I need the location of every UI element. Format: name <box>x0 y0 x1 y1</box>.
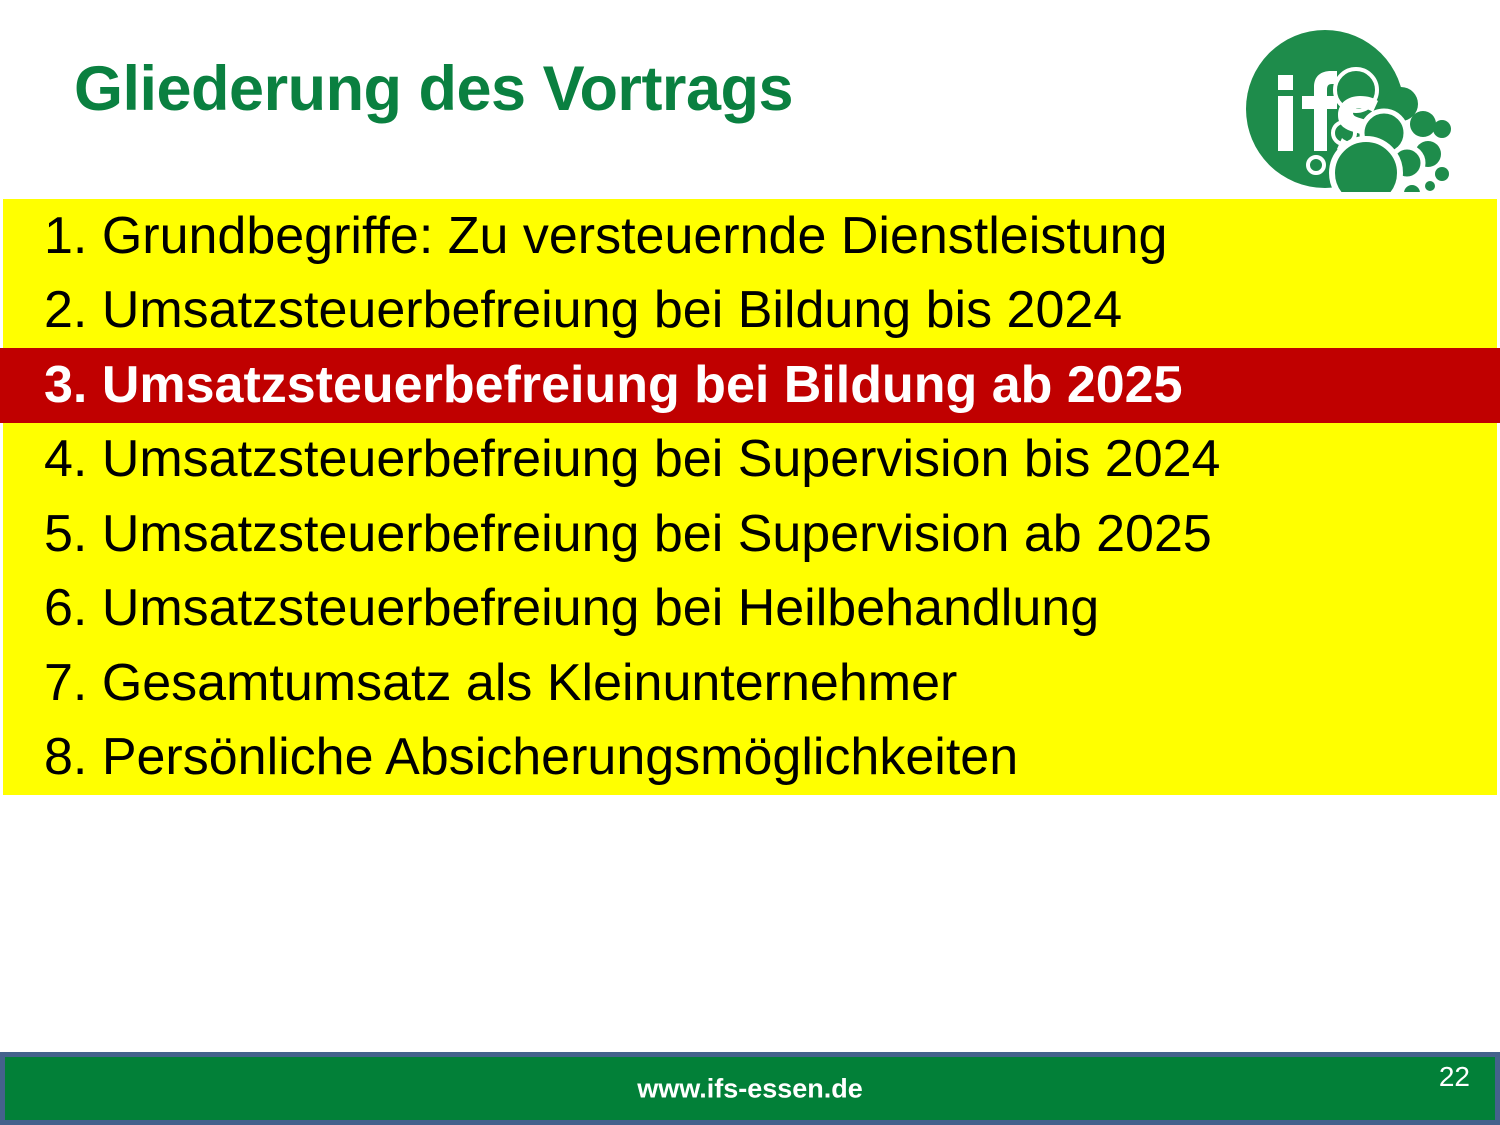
agenda-item-6[interactable]: 6. Umsatzsteuerbefreiung bei Heilbehandl… <box>0 572 1500 647</box>
slide: Gliederung des Vortrags <box>0 0 1500 1125</box>
agenda-item-2-label: 2. Umsatzsteuerbefreiung bei Bildung bis… <box>0 284 1122 337</box>
agenda-item-5[interactable]: 5. Umsatzsteuerbefreiung bei Supervision… <box>0 497 1500 572</box>
agenda-item-4[interactable]: 4. Umsatzsteuerbefreiung bei Supervision… <box>0 423 1500 498</box>
ifs-logo <box>1246 26 1462 192</box>
agenda-item-6-label: 6. Umsatzsteuerbefreiung bei Heilbehandl… <box>0 582 1099 635</box>
agenda-item-8[interactable]: 8. Persönliche Absicherungsmöglichkeiten <box>0 721 1500 796</box>
agenda-item-7[interactable]: 7. Gesamtumsatz als Kleinunternehmer <box>0 646 1500 721</box>
agenda-item-3-label: 3. Umsatzsteuerbefreiung bei Bildung ab … <box>0 359 1183 412</box>
agenda-item-7-label: 7. Gesamtumsatz als Kleinunternehmer <box>0 657 957 710</box>
page-number: 22 <box>1439 1061 1470 1093</box>
agenda-item-2[interactable]: 2. Umsatzsteuerbefreiung bei Bildung bis… <box>0 274 1500 349</box>
footer-website-link[interactable]: www.ifs-essen.de <box>5 1073 1495 1104</box>
agenda-list: 1. Grundbegriffe: Zu versteuernde Dienst… <box>0 199 1500 795</box>
agenda-item-3[interactable]: 3. Umsatzsteuerbefreiung bei Bildung ab … <box>0 348 1500 423</box>
agenda-item-8-label: 8. Persönliche Absicherungsmöglichkeiten <box>0 731 1018 784</box>
page-title: Gliederung des Vortrags <box>74 58 793 121</box>
ifs-logo-icon <box>1246 26 1462 192</box>
agenda-item-1-label: 1. Grundbegriffe: Zu versteuernde Dienst… <box>0 210 1167 263</box>
agenda-item-1[interactable]: 1. Grundbegriffe: Zu versteuernde Dienst… <box>0 199 1500 274</box>
agenda-item-4-label: 4. Umsatzsteuerbefreiung bei Supervision… <box>0 433 1220 486</box>
footer-bar: www.ifs-essen.de 22 <box>0 1052 1500 1125</box>
agenda-item-5-label: 5. Umsatzsteuerbefreiung bei Supervision… <box>0 508 1212 561</box>
footer-band: www.ifs-essen.de 22 <box>5 1057 1495 1120</box>
